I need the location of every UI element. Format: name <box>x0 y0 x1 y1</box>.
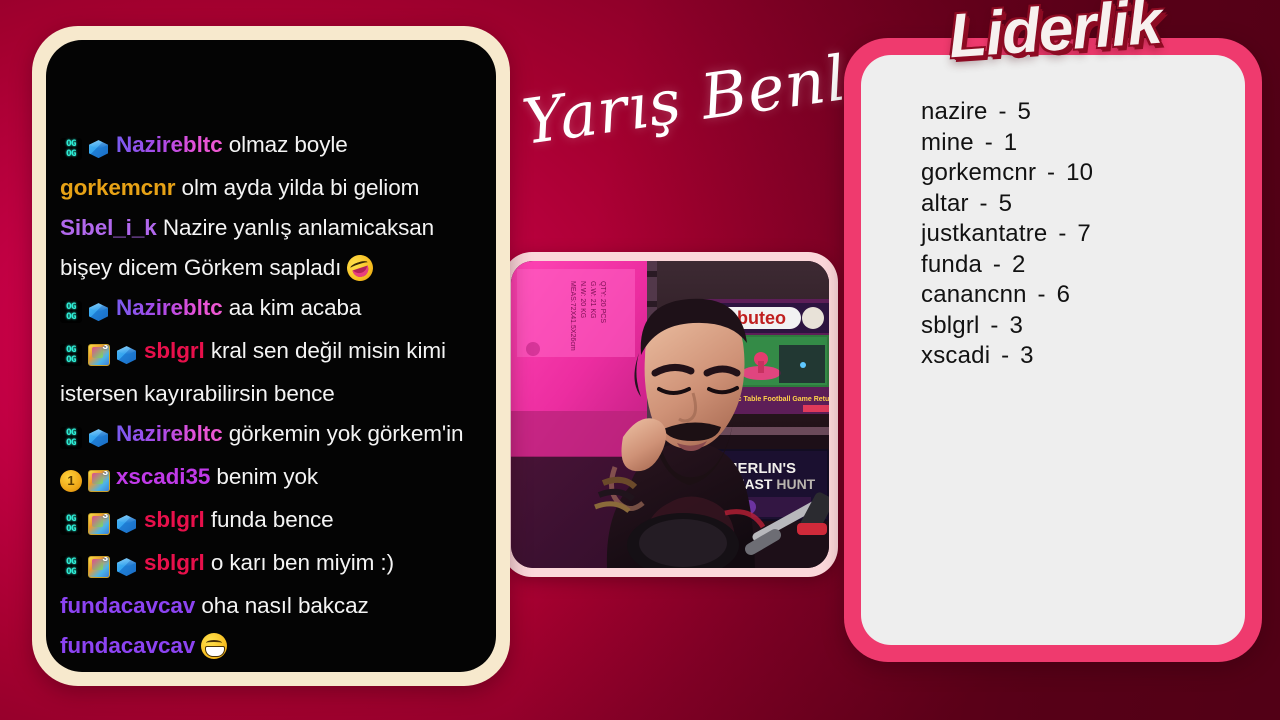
leaderboard-separator: - <box>1027 281 1057 308</box>
chat-username[interactable]: fundacavcav <box>60 593 195 618</box>
chat-username[interactable]: Sibel_i_k <box>60 215 157 240</box>
chat-panel: OGOGNazirebltc olmaz boylegorkemcnr olm … <box>32 26 510 686</box>
leaderboard-score: 7 <box>1077 220 1091 247</box>
leaderboard-score: 2 <box>1012 251 1026 278</box>
leaderboard-name: nazire <box>921 98 988 125</box>
chat-message-text: oha nasıl bakcaz <box>195 593 368 618</box>
grinning-emoji-icon <box>201 633 227 659</box>
chat-badge-group: OGOG <box>60 503 144 543</box>
webcam-frame: QTY: 20 PCS G.W: 21 KG N.W: 20 KG MEAS:7… <box>502 252 838 577</box>
leaderboard-row: justkantatre - 7 <box>921 219 1245 250</box>
leaderboard-separator: - <box>1036 159 1066 186</box>
leaderboard-name: canancnn <box>921 281 1027 308</box>
og-badge-icon[interactable]: OGOG <box>60 556 82 578</box>
chat-message: OGOGsblgrl o karı ben miyim :) <box>60 543 482 586</box>
chat-message-text: görkemin yok görkem'in <box>223 421 464 446</box>
svg-text:MEAS:72X41.5X26cm: MEAS:72X41.5X26cm <box>569 281 576 351</box>
leaderboard-score: 5 <box>999 190 1013 217</box>
svg-text:N.W: 20 KG: N.W: 20 KG <box>579 281 586 318</box>
og-badge-icon[interactable]: OGOG <box>60 344 82 366</box>
chat-username[interactable]: Nazirebltc <box>116 295 223 320</box>
chat-message-text: o karı ben miyim :) <box>205 550 394 575</box>
chat-message: gorkemcnr olm ayda yilda bi geliom <box>60 168 482 208</box>
subscriber-badge-icon[interactable] <box>88 513 110 535</box>
leaderboard-name: mine <box>921 129 974 156</box>
chat-message: fundacavcav <box>60 626 482 666</box>
chat-username[interactable]: fundacavcav <box>60 633 195 658</box>
leaderboard-separator: - <box>990 342 1020 369</box>
leaderboard-score: 5 <box>1018 98 1032 125</box>
leaderboard-separator: - <box>1047 220 1077 247</box>
chat-message-text: aa kim acaba <box>223 295 362 320</box>
chat-message-text: funda bence <box>205 507 334 532</box>
chat-message-text: olm ayda yilda bi geliom <box>175 175 419 200</box>
rofl-emoji-icon <box>344 252 377 285</box>
webcam-video: QTY: 20 PCS G.W: 21 KG N.W: 20 KG MEAS:7… <box>511 261 829 568</box>
gift-cube-badge-icon[interactable] <box>116 344 138 366</box>
og-badge-icon[interactable]: OGOG <box>60 301 82 323</box>
leaderboard-row: gorkemcnr - 10 <box>921 158 1245 189</box>
leaderboard-row: canancnn - 6 <box>921 280 1245 311</box>
chat-message-text: olmaz boyle <box>223 132 348 157</box>
gift-cube-badge-icon[interactable] <box>88 427 110 449</box>
leaderboard-name: xscadi <box>921 342 990 369</box>
og-badge-icon[interactable]: OGOG <box>60 138 82 160</box>
chat-username[interactable]: sblgrl <box>144 507 205 532</box>
chat-message: OGOGNazirebltc aa kim acaba <box>60 288 482 331</box>
leaderboard-row: funda - 2 <box>921 250 1245 281</box>
leaderboard-separator: - <box>982 251 1012 278</box>
chat-message: 1xscadi35 benim yok <box>60 457 482 500</box>
chat-badge-group: OGOG <box>60 334 144 374</box>
chat-message: Sibel_i_k Nazire yanlış anlamicaksan biş… <box>60 208 482 288</box>
leaderboard-score: 10 <box>1066 159 1093 186</box>
leaderboard-score: 1 <box>1004 129 1018 156</box>
gift-cube-badge-icon[interactable] <box>116 556 138 578</box>
chat-messages-container[interactable]: OGOGNazirebltc olmaz boylegorkemcnr olm … <box>46 40 496 672</box>
leaderboard-name: justkantatre <box>921 220 1047 247</box>
yaris-benle-script-title: Yarış Benle <box>517 30 862 205</box>
gift-cube-badge-icon[interactable] <box>88 301 110 323</box>
streamer-webcam-image: QTY: 20 PCS G.W: 21 KG N.W: 20 KG MEAS:7… <box>511 261 829 568</box>
chat-badge-group: OGOG <box>60 128 116 168</box>
leaderboard-row: nazire - 5 <box>921 97 1245 128</box>
leaderboard-separator: - <box>980 312 1010 339</box>
leaderboard-row: altar - 5 <box>921 189 1245 220</box>
chat-username[interactable]: gorkemcnr <box>60 175 175 200</box>
leaderboard-separator: - <box>974 129 1004 156</box>
leaderboard-name: sblgrl <box>921 312 980 339</box>
subscriber-badge-icon[interactable] <box>88 344 110 366</box>
chat-badge-group: 1 <box>60 460 116 500</box>
leaderboard-score: 6 <box>1057 281 1071 308</box>
subscriber-badge-icon[interactable] <box>88 470 110 492</box>
leaderboard-score: 3 <box>1020 342 1034 369</box>
stream-overlay-stage: OGOGNazirebltc olmaz boylegorkemcnr olm … <box>0 0 1280 720</box>
og-badge-icon[interactable]: OGOG <box>60 513 82 535</box>
chat-scroll-area[interactable]: OGOGNazirebltc olmaz boylegorkemcnr olm … <box>46 125 496 666</box>
leaderboard-name: gorkemcnr <box>921 159 1036 186</box>
svg-text:QTY: 20 PCS: QTY: 20 PCS <box>599 281 606 323</box>
chat-username[interactable]: xscadi35 <box>116 464 210 489</box>
leaderboard-separator: - <box>988 98 1018 125</box>
chat-username[interactable]: sblgrl <box>144 550 205 575</box>
leaderboard-row: sblgrl - 3 <box>921 311 1245 342</box>
leaderboard-name: altar <box>921 190 969 217</box>
leaderboard-row: xscadi - 3 <box>921 341 1245 372</box>
gift-cube-badge-icon[interactable] <box>116 513 138 535</box>
leaderboard-list: nazire - 5mine - 1gorkemcnr - 10altar - … <box>861 55 1245 645</box>
chat-message: OGOGsblgrl funda bence <box>60 500 482 543</box>
chat-message: fundacavcav oha nasıl bakcaz <box>60 586 482 626</box>
leaderboard-row: mine - 1 <box>921 128 1245 159</box>
chat-message: OGOGsblgrl kral sen değil misin kimi ist… <box>60 331 482 414</box>
svg-text:G.W: 21 KG: G.W: 21 KG <box>589 281 596 319</box>
gift-cube-badge-icon[interactable] <box>88 138 110 160</box>
chat-badge-group: OGOG <box>60 291 116 331</box>
chat-message-text: benim yok <box>210 464 318 489</box>
leaderboard-score: 3 <box>1010 312 1024 339</box>
leaderboard-panel: nazire - 5mine - 1gorkemcnr - 10altar - … <box>844 38 1262 662</box>
chat-badge-group: OGOG <box>60 546 144 586</box>
og-badge-icon[interactable]: OGOG <box>60 427 82 449</box>
chat-badge-group: OGOG <box>60 417 116 457</box>
chat-username[interactable]: Nazirebltc <box>116 421 223 446</box>
rank-one-badge-icon[interactable]: 1 <box>60 470 82 492</box>
leaderboard-name: funda <box>921 251 982 278</box>
chat-message: OGOGNazirebltc görkemin yok görkem'in <box>60 414 482 457</box>
chat-username[interactable]: Nazirebltc <box>116 132 223 157</box>
chat-username[interactable]: sblgrl <box>144 338 205 363</box>
chat-message: OGOGNazirebltc olmaz boyle <box>60 125 482 168</box>
leaderboard-separator: - <box>969 190 999 217</box>
subscriber-badge-icon[interactable] <box>88 556 110 578</box>
